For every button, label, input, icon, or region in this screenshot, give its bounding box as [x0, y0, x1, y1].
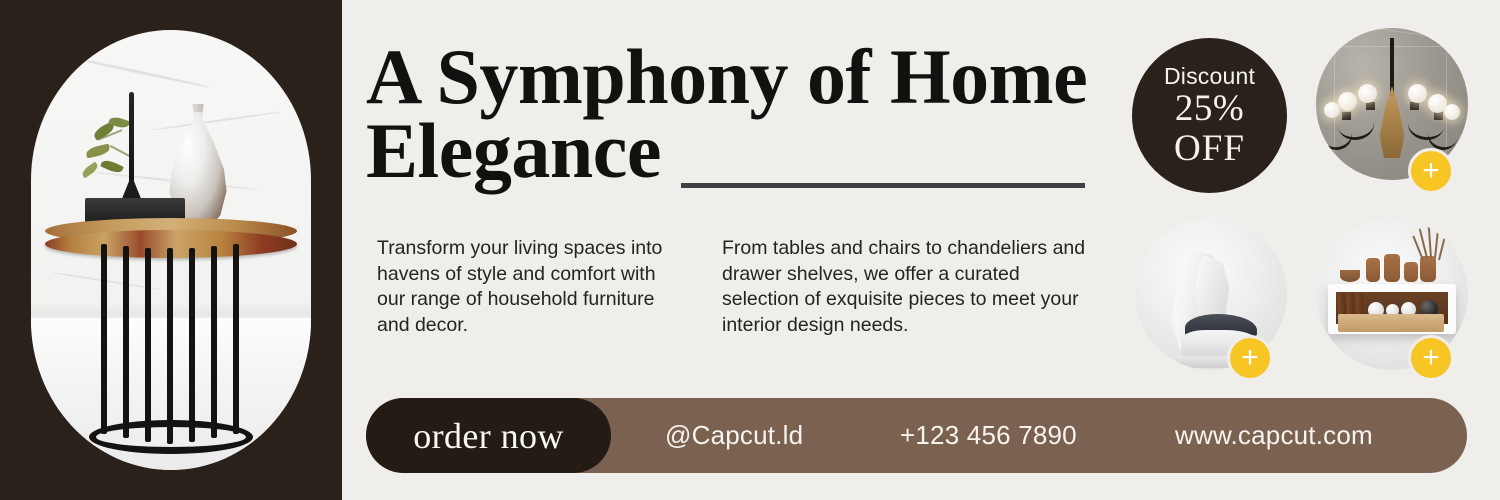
headline-divider	[681, 183, 1085, 188]
social-handle[interactable]: @Capcut.ld	[665, 398, 803, 473]
order-now-button[interactable]: order now	[366, 398, 611, 473]
table-base-ring	[89, 420, 253, 454]
phone-number[interactable]: +123 456 7890	[900, 398, 1077, 473]
body-paragraph-left: Transform your living spaces into havens…	[377, 236, 687, 338]
add-chair-plus-icon[interactable]: +	[1227, 335, 1273, 381]
website-url[interactable]: www.capcut.com	[1175, 398, 1373, 473]
discount-label: Discount	[1164, 63, 1255, 89]
body-paragraph-right: From tables and chairs to chandeliers an…	[722, 236, 1092, 338]
shelf-drawers	[1338, 314, 1444, 332]
hero-panel	[0, 0, 342, 500]
add-shelf-plus-icon[interactable]: +	[1408, 335, 1454, 381]
add-chandelier-plus-icon[interactable]: +	[1408, 148, 1454, 194]
hero-product-photo	[31, 30, 311, 470]
discount-badge: Discount 25% OFF	[1132, 38, 1287, 193]
discount-percent: 25%	[1175, 89, 1244, 129]
discount-off-text: OFF	[1174, 129, 1245, 169]
headline-line-2: Elegance	[366, 114, 1106, 188]
page-title: A Symphony of Home Elegance	[366, 40, 1106, 188]
promo-banner: A Symphony of Home Elegance Transform yo…	[0, 0, 1500, 500]
